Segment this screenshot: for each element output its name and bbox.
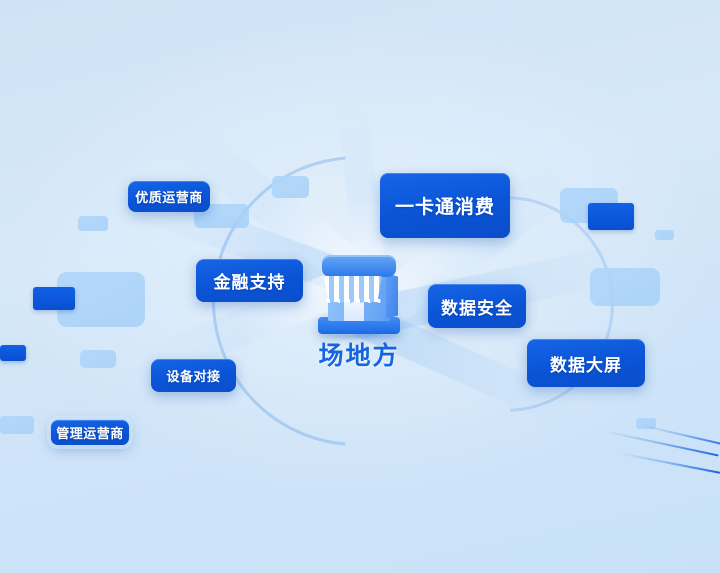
label-chip-text: 数据大屏 <box>550 351 622 376</box>
storefront-icon <box>310 243 408 338</box>
decorative-rect <box>78 216 108 231</box>
storefront-side <box>386 273 398 319</box>
label-chip-text: 金融支持 <box>214 268 286 293</box>
decorative-rect <box>80 350 116 368</box>
label-chip-text: 设备对接 <box>166 366 220 385</box>
label-chip-data-security[interactable]: 数据安全 <box>428 284 526 328</box>
storefront-roof <box>322 255 396 277</box>
awning-scallop <box>325 299 381 306</box>
label-chip-text: 优质运营商 <box>135 187 203 206</box>
label-chip-device-integration[interactable]: 设备对接 <box>151 359 236 392</box>
label-chip-text: 管理运营商 <box>56 423 124 442</box>
label-chip-data-dashboard[interactable]: 数据大屏 <box>527 339 645 387</box>
label-chip-financial-support[interactable]: 金融支持 <box>196 259 303 302</box>
infographic-canvas: 场地方 优质运营商金融支持设备对接管理运营商一卡通消费数据安全数据大屏 <box>0 0 720 573</box>
decorative-rect <box>655 230 674 240</box>
label-chip-text: 数据安全 <box>441 294 513 319</box>
label-chip-text: 一卡通消费 <box>395 192 495 219</box>
decorative-rect <box>590 268 660 306</box>
center-label: 场地方 <box>304 336 414 372</box>
decorative-solid-chip <box>33 287 75 310</box>
label-chip-quality-operator[interactable]: 优质运营商 <box>128 181 210 212</box>
decorative-solid-chip <box>0 345 26 361</box>
decorative-rect <box>0 416 34 434</box>
label-chip-all-in-one-card[interactable]: 一卡通消费 <box>380 173 510 238</box>
decorative-rect <box>272 176 309 198</box>
decorative-solid-chip <box>588 203 634 230</box>
label-chip-management-operator[interactable]: 管理运营商 <box>50 419 130 446</box>
